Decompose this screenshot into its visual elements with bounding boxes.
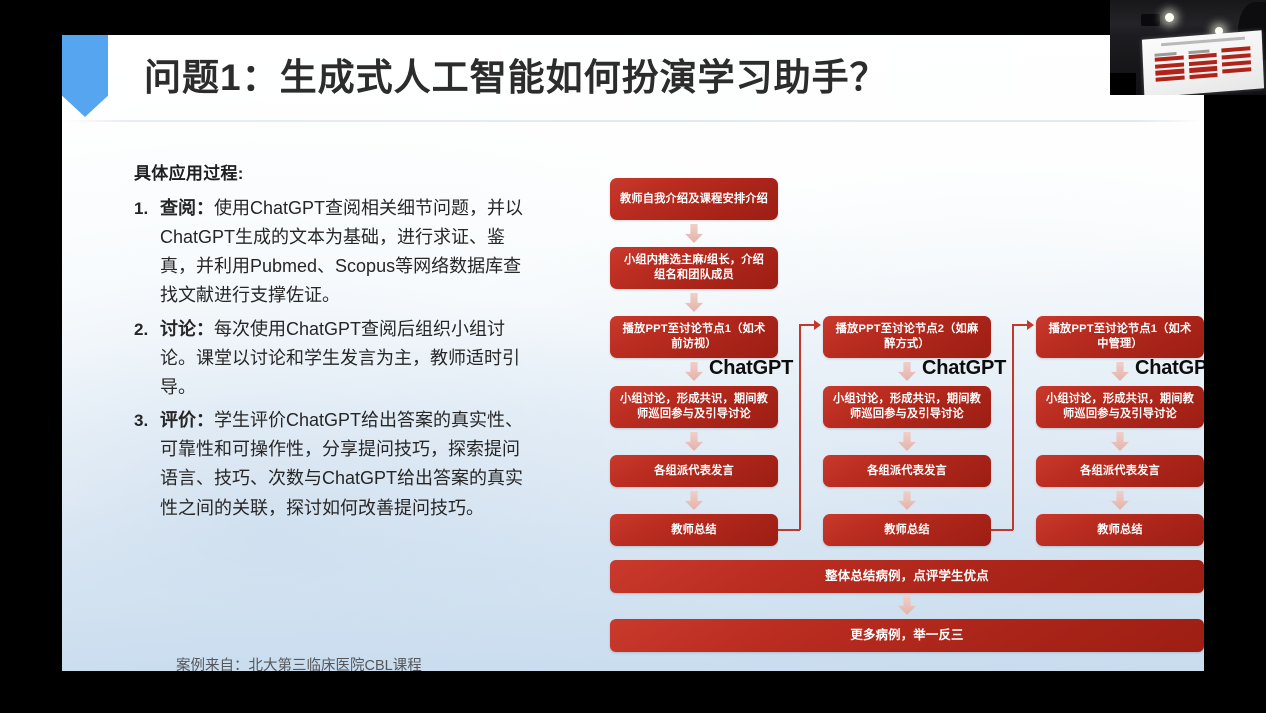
- page-title: 问题1：生成式人工智能如何扮演学习助手？: [144, 47, 888, 101]
- chatgpt-label-2: ChatGPT: [1135, 357, 1204, 380]
- down-arrow-icon: [685, 432, 703, 451]
- flow-col-2-step-0: 小组讨论，形成共识，期间教师巡回参与及引导讨论: [1036, 386, 1204, 428]
- list-item: 3. 评价：学生评价ChatGPT给出答案的真实性、可靠性和可操作性，分享提问技…: [134, 406, 526, 523]
- presentation-slide: 问题1：生成式人工智能如何扮演学习助手？ 具体应用过程: 1. 查阅：使用Cha…: [62, 35, 1204, 671]
- step-number: 2.: [134, 315, 160, 344]
- down-arrow-icon: [685, 293, 703, 312]
- flow-col-2-header: 播放PPT至讨论节点1（如术中管理）: [1036, 316, 1204, 358]
- flow-col-1-step-1: 各组派代表发言: [823, 455, 991, 487]
- flow-col-0-step-0: 小组讨论，形成共识，期间教师巡回参与及引导讨论: [610, 386, 778, 428]
- down-arrow-icon: [1111, 491, 1129, 510]
- list-item: 1. 查阅：使用ChatGPT查阅相关细节问题，并以ChatGPT生成的文本为基…: [134, 194, 526, 311]
- title-divider: [62, 120, 1204, 122]
- step-text: 使用ChatGPT查阅相关细节问题，并以ChatGPT生成的文本为基础，进行求证…: [160, 198, 523, 305]
- step-body: 查阅：使用ChatGPT查阅相关细节问题，并以ChatGPT生成的文本为基础，进…: [160, 194, 526, 311]
- cbl-course-flowchart: 教师自我介绍及课程安排介绍 小组内推选主麻/组长，介绍组名和团队成员 播放PPT…: [546, 130, 1178, 630]
- list-item: 2. 讨论：每次使用ChatGPT查阅后组织小组讨论。课堂以讨论和学生发言为主，…: [134, 315, 526, 402]
- step-text: 每次使用ChatGPT查阅后组织小组讨论。课堂以讨论和学生发言为主，教师适时引导…: [160, 319, 520, 397]
- flow-col-0-header: 播放PPT至讨论节点1（如术前访视）: [610, 316, 778, 358]
- body-heading: 具体应用过程:: [134, 159, 526, 184]
- steps-list: 1. 查阅：使用ChatGPT查阅相关细节问题，并以ChatGPT生成的文本为基…: [134, 194, 526, 523]
- application-process-text: 具体应用过程: 1. 查阅：使用ChatGPT查阅相关细节问题，并以ChatGP…: [134, 159, 526, 527]
- down-arrow-icon: [685, 362, 703, 381]
- projected-title: [1161, 36, 1245, 45]
- overlay-corner-mask: [1110, 73, 1136, 95]
- down-arrow-icon: [898, 362, 916, 381]
- ribbon-bookmark-icon: [62, 35, 108, 117]
- flow-col-1-header: 播放PPT至讨论节点2（如麻醉方式）: [823, 316, 991, 358]
- flow-box-intro-0: 教师自我介绍及课程安排介绍: [610, 178, 778, 220]
- chatgpt-label-1: ChatGPT: [922, 357, 1006, 380]
- flow-col-1-step-2: 教师总结: [823, 514, 991, 546]
- down-arrow-icon: [898, 432, 916, 451]
- ceiling-panel: [1141, 14, 1160, 26]
- ceiling-light-icon: [1165, 13, 1174, 22]
- step-body: 评价：学生评价ChatGPT给出答案的真实性、可靠性和可操作性，分享提问技巧，探…: [160, 406, 526, 523]
- case-source-note: 案例来自：北大第三临床医院CBL课程: [176, 654, 422, 671]
- step-number: 1.: [134, 194, 160, 223]
- flow-col-0-step-2: 教师总结: [610, 514, 778, 546]
- step-body: 讨论：每次使用ChatGPT查阅后组织小组讨论。课堂以讨论和学生发言为主，教师适…: [160, 315, 526, 402]
- flow-col-2-step-2: 教师总结: [1036, 514, 1204, 546]
- screen: 问题1：生成式人工智能如何扮演学习助手？ 具体应用过程: 1. 查阅：使用Cha…: [0, 0, 1266, 713]
- flow-footer-bar-0: 整体总结病例，点评学生优点: [610, 560, 1204, 593]
- down-arrow-icon: [898, 596, 916, 615]
- flow-col-0-step-1: 各组派代表发言: [610, 455, 778, 487]
- down-arrow-icon: [898, 491, 916, 510]
- down-arrow-icon: [685, 224, 703, 243]
- flow-box-intro-1: 小组内推选主麻/组长，介绍组名和团队成员: [610, 247, 778, 289]
- projected-slide: [1142, 30, 1264, 95]
- flow-col-1-step-0: 小组讨论，形成共识，期间教师巡回参与及引导讨论: [823, 386, 991, 428]
- down-arrow-icon: [1111, 362, 1129, 381]
- down-arrow-icon: [1111, 432, 1129, 451]
- step-lead: 评价：: [160, 410, 214, 430]
- flow-col-2-step-1: 各组派代表发言: [1036, 455, 1204, 487]
- down-arrow-icon: [685, 491, 703, 510]
- step-number: 3.: [134, 406, 160, 435]
- step-lead: 讨论：: [160, 319, 214, 339]
- step-text: 学生评价ChatGPT给出答案的真实性、可靠性和可操作性，分享提问技巧，探索提问…: [160, 410, 523, 517]
- step-lead: 查阅：: [160, 198, 214, 218]
- presenter-camera-overlay[interactable]: [1110, 0, 1266, 95]
- flow-footer-bar-1: 更多病例，举一反三: [610, 619, 1204, 652]
- chatgpt-label-0: ChatGPT: [709, 357, 793, 380]
